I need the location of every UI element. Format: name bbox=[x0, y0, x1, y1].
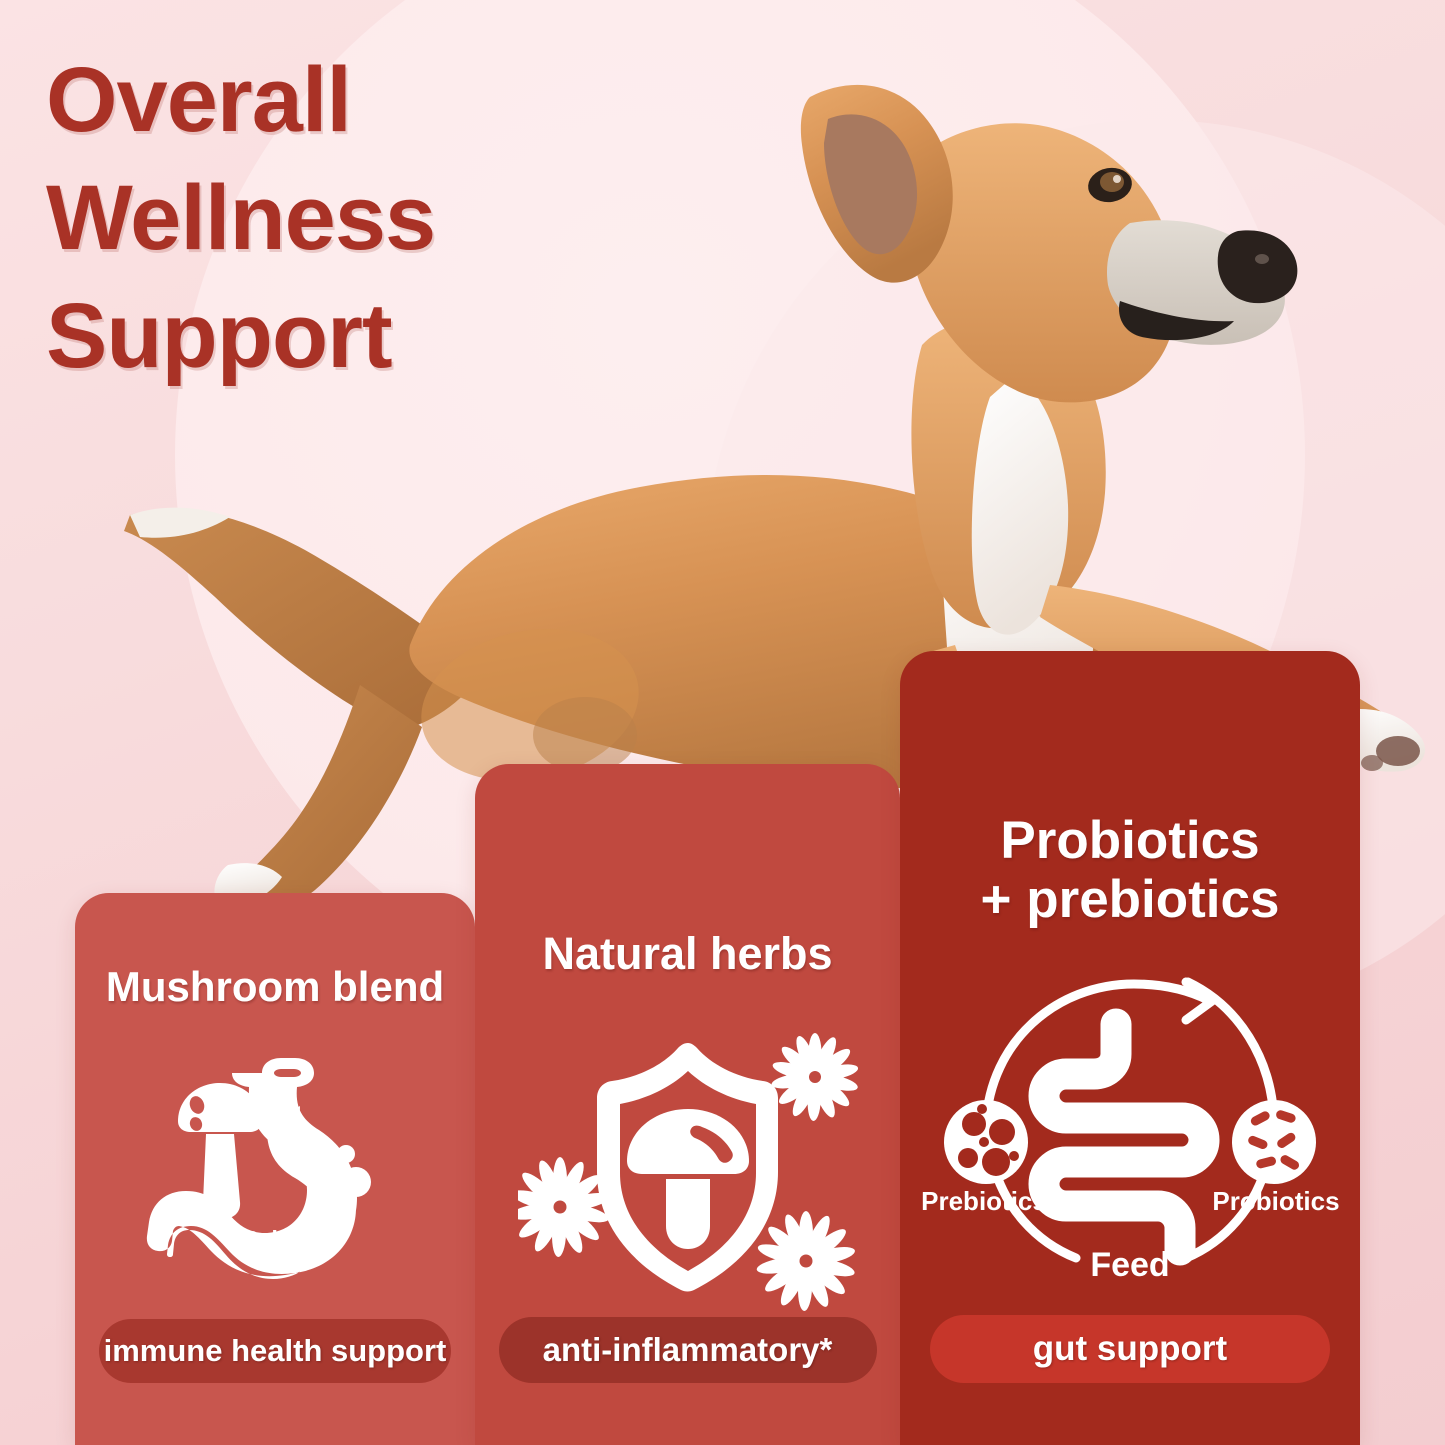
page-title: Overall Wellness Support bbox=[46, 42, 666, 395]
shield-with-mushroom-icon bbox=[475, 1009, 900, 1339]
page-title-line-1: Overall bbox=[46, 42, 666, 160]
card-title-probiotics-prebiotics: Probiotics + prebiotics bbox=[900, 811, 1360, 930]
benefit-card-natural-herbs[interactable]: Natural herbs bbox=[475, 764, 900, 1445]
prebiotics-label: Prebiotics bbox=[921, 1186, 1047, 1216]
probiotics-label: Probiotics bbox=[1212, 1186, 1339, 1216]
card-title-line-1: Probiotics bbox=[1000, 811, 1259, 870]
stomach-icon-label: Relaxing bbox=[242, 1226, 338, 1252]
feed-label: Feed bbox=[1090, 1246, 1169, 1284]
card-title-natural-herbs: Natural herbs bbox=[475, 929, 900, 979]
card-title-line-2: + prebiotics bbox=[981, 870, 1280, 929]
prebiotics-node bbox=[944, 1100, 1028, 1184]
stomach-with-mushroom-icon: Relaxing bbox=[75, 1033, 475, 1333]
page-title-line-2: Wellness bbox=[46, 160, 666, 278]
card-title-mushroom-blend: Mushroom blend bbox=[75, 963, 475, 1010]
benefit-card-mushroom-blend[interactable]: Mushroom blend bbox=[75, 893, 475, 1445]
infographic-canvas: Overall Wellness Support bbox=[0, 0, 1445, 1445]
probiotics-node bbox=[1232, 1100, 1316, 1184]
pill-immune-health-support[interactable]: immune health support bbox=[99, 1319, 451, 1383]
benefit-card-probiotics-prebiotics[interactable]: Probiotics + prebiotics bbox=[900, 651, 1360, 1445]
pill-anti-inflammatory[interactable]: anti-inflammatory* bbox=[499, 1317, 877, 1383]
pill-gut-support[interactable]: gut support bbox=[930, 1315, 1330, 1383]
page-title-line-3: Support bbox=[46, 278, 666, 396]
gut-cycle-icon: Prebiotics Probiotics Feed bbox=[900, 936, 1360, 1296]
